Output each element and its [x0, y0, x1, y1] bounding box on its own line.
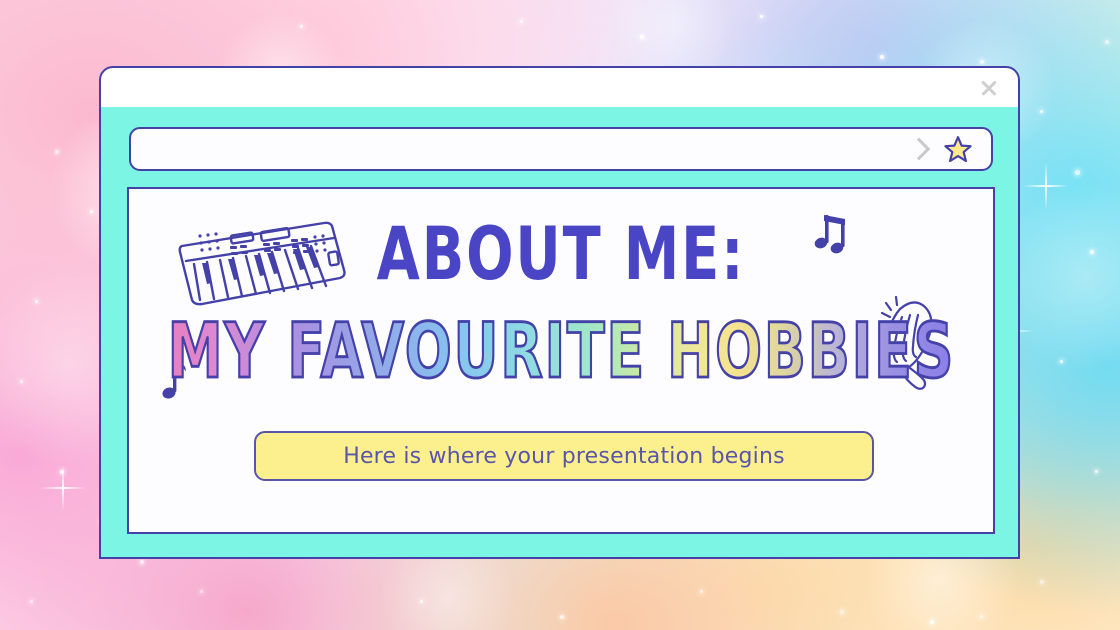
browser-window: ABOUT ME: MY FAVOURITE HOBBIES Here is w… [99, 66, 1020, 559]
slide-canvas: ABOUT ME: MY FAVOURITE HOBBIES Here is w… [127, 187, 995, 534]
presentation-cta-button[interactable]: Here is where your presentation begins [254, 431, 874, 481]
url-input[interactable] [131, 129, 911, 169]
browser-frame: ABOUT ME: MY FAVOURITE HOBBIES Here is w… [99, 107, 1020, 559]
slide-subtitle: MY FAVOURITE HOBBIES [167, 307, 955, 395]
presentation-cta-label: Here is where your presentation begins [343, 444, 785, 469]
browser-titlebar [99, 66, 1020, 109]
close-icon[interactable] [974, 73, 1004, 103]
slide-subtitle-wrap: MY FAVOURITE HOBBIES [129, 307, 993, 375]
chevron-right-icon[interactable] [908, 138, 931, 161]
star-icon[interactable] [943, 135, 973, 164]
slide-title: ABOUT ME: [159, 212, 963, 297]
address-bar[interactable] [129, 127, 993, 171]
